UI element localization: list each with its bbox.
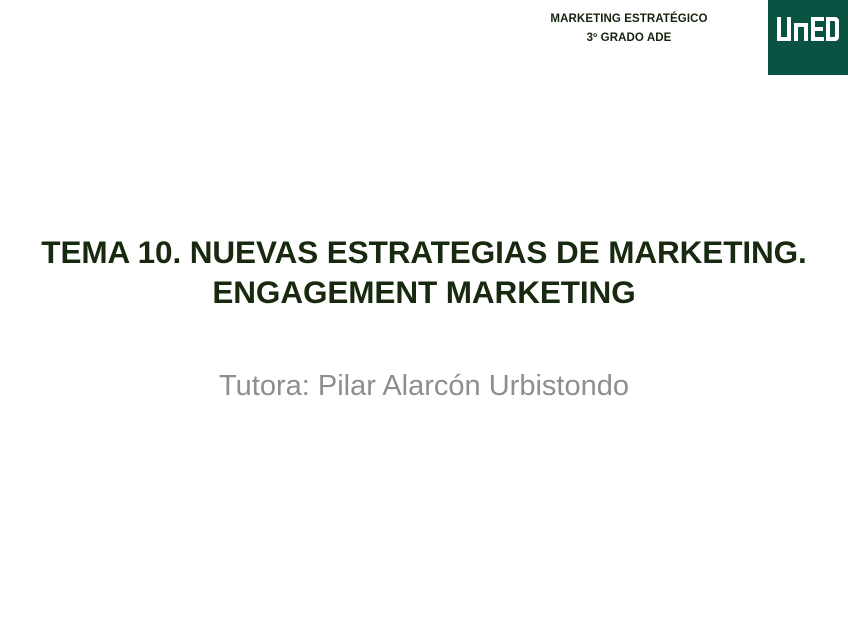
slide-header: MARKETING ESTRATÉGICO 3º GRADO ADE (0, 0, 848, 75)
subtitle-block: Tutora: Pilar Alarcón Urbistondo (24, 368, 824, 404)
title-block: TEMA 10. NUEVAS ESTRATEGIAS DE MARKETING… (24, 232, 824, 312)
title-line-1: TEMA 10. NUEVAS ESTRATEGIAS DE MARKETING… (24, 232, 824, 272)
uned-logo-block (768, 0, 848, 75)
presentation-slide: MARKETING ESTRATÉGICO 3º GRADO ADE TEMA (0, 0, 848, 636)
course-title-line1: MARKETING ESTRATÉGICO (498, 10, 760, 29)
course-level-line2: 3º GRADO ADE (498, 29, 760, 48)
uned-wordmark-icon (768, 17, 848, 41)
course-header: MARKETING ESTRATÉGICO 3º GRADO ADE (498, 10, 760, 48)
tutor-subtitle: Tutora: Pilar Alarcón Urbistondo (24, 368, 824, 404)
title-line-2: ENGAGEMENT MARKETING (24, 272, 824, 312)
page-title: TEMA 10. NUEVAS ESTRATEGIAS DE MARKETING… (24, 232, 824, 312)
